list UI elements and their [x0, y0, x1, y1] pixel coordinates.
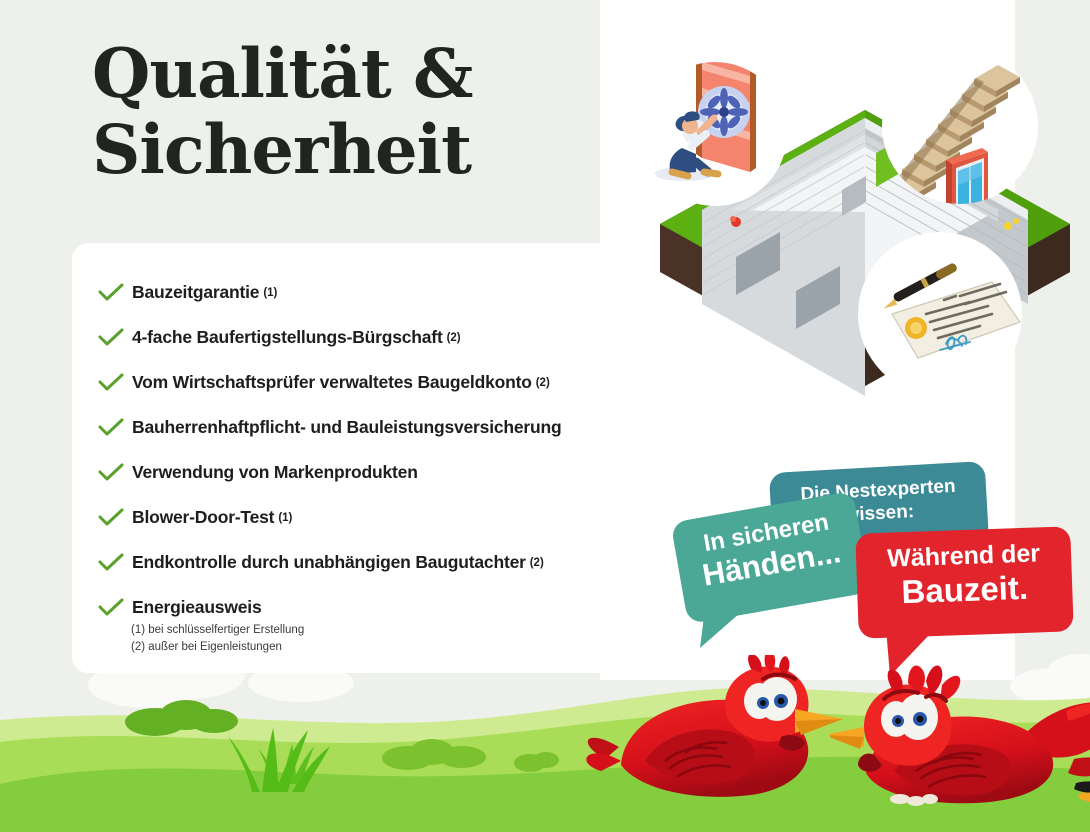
tail-tip-icon: [1074, 781, 1090, 802]
check-mark-icon: [98, 373, 132, 393]
list-item-label: Bauzeitgarantie: [132, 282, 259, 303]
list-item-label: Energieausweis: [132, 597, 261, 618]
list-item: Blower-Door-Test (1): [98, 495, 658, 540]
footnotes: (1) bei schlüsselfertiger Erstellung (2)…: [131, 622, 304, 656]
checklist: Bauzeitgarantie (1) 4-fache Baufertigste…: [98, 270, 658, 630]
list-item-label: Vom Wirtschaftsprüfer verwaltetes Baugel…: [132, 372, 532, 393]
list-item: Endkontrolle durch unabhängigen Baugutac…: [98, 540, 658, 585]
list-item: 4-fache Baufertigstellungs-Bürgschaft (2…: [98, 315, 658, 360]
check-mark-icon: [98, 283, 132, 303]
speech-bubble-bauzeit: Während der Bauzeit.: [855, 526, 1074, 638]
grass-tuft-icon: [228, 728, 330, 792]
check-mark-icon: [98, 463, 132, 483]
house-illustration: [640, 14, 1090, 414]
list-item-label: Verwendung von Markenprodukten: [132, 462, 418, 483]
check-mark-icon: [98, 418, 132, 438]
check-mark-icon: [98, 328, 132, 348]
list-item: Bauzeitgarantie (1): [98, 270, 658, 315]
check-mark-icon: [98, 508, 132, 528]
infographic-root: Qualität & Sicherheit Bauzeitgarantie (1…: [0, 0, 1090, 832]
list-item: Bauherrenhaftpflicht- und Bauleistungsve…: [98, 405, 658, 450]
list-item-label: Blower-Door-Test: [132, 507, 274, 528]
page-title: Qualität & Sicherheit: [92, 36, 473, 188]
bubble-line-2: Bauzeit.: [857, 567, 1073, 611]
list-item-label: 4-fache Baufertigstellungs-Bürgschaft: [132, 327, 443, 348]
seal-icon: [905, 317, 927, 339]
bird-right: [830, 655, 1090, 825]
list-item-note: (1): [263, 287, 277, 299]
check-mark-icon: [98, 598, 132, 618]
check-mark-icon: [98, 553, 132, 573]
footnote: (2) außer bei Eigenleistungen: [131, 639, 304, 656]
list-item-note: (2): [530, 557, 544, 569]
certificate-signature-badge: [858, 232, 1022, 396]
list-item-note: (2): [536, 377, 550, 389]
list-item-label: Bauherrenhaftpflicht- und Bauleistungsve…: [132, 417, 562, 438]
list-item-note: (2): [447, 332, 461, 344]
blower-door-test-badge: [643, 34, 787, 206]
footnote: (1) bei schlüsselfertiger Erstellung: [131, 622, 304, 639]
list-item: Vom Wirtschaftsprüfer verwaltetes Baugel…: [98, 360, 658, 405]
list-item-note: (1): [278, 512, 292, 524]
list-item-label: Endkontrolle durch unabhängigen Baugutac…: [132, 552, 526, 573]
list-item: Verwendung von Markenprodukten: [98, 450, 658, 495]
